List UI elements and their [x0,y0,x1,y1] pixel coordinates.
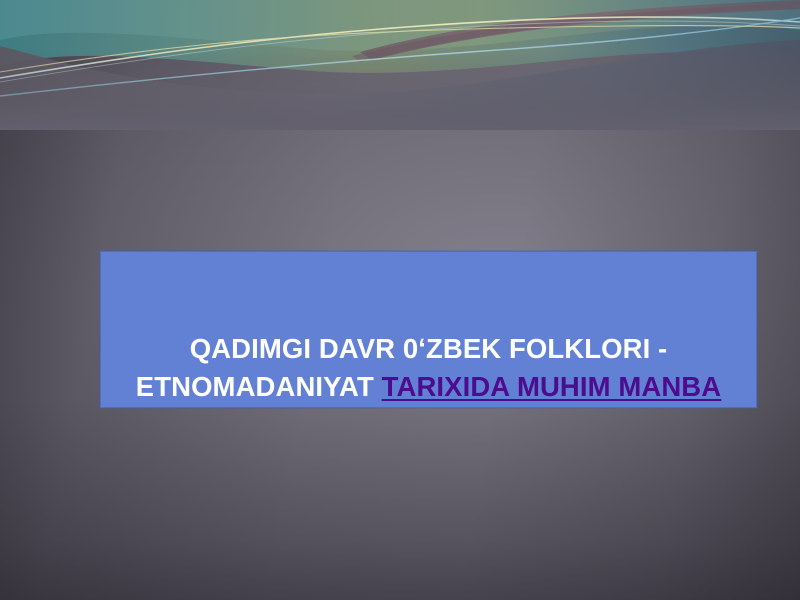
slide-title: QADIMGI DAVR 0ʻZBEK FOLKLORI - ETNOMADAN… [100,330,757,406]
title-line-1-text: QADIMGI DAVR 0ʻZBEK FOLKLORI - [190,333,668,364]
title-line-1: QADIMGI DAVR 0ʻZBEK FOLKLORI - [100,330,757,368]
presentation-slide: QADIMGI DAVR 0ʻZBEK FOLKLORI - ETNOMADAN… [0,0,800,600]
title-line-2-plain-text: ETNOMADANIYAT [136,371,382,402]
wave-header-graphic [0,0,800,130]
title-line-2: ETNOMADANIYAT TARIXIDA MUHIM MANBA [100,368,757,406]
title-hyperlink[interactable]: TARIXIDA MUHIM MANBA [382,371,722,402]
title-textbox[interactable]: QADIMGI DAVR 0ʻZBEK FOLKLORI - ETNOMADAN… [100,251,757,408]
